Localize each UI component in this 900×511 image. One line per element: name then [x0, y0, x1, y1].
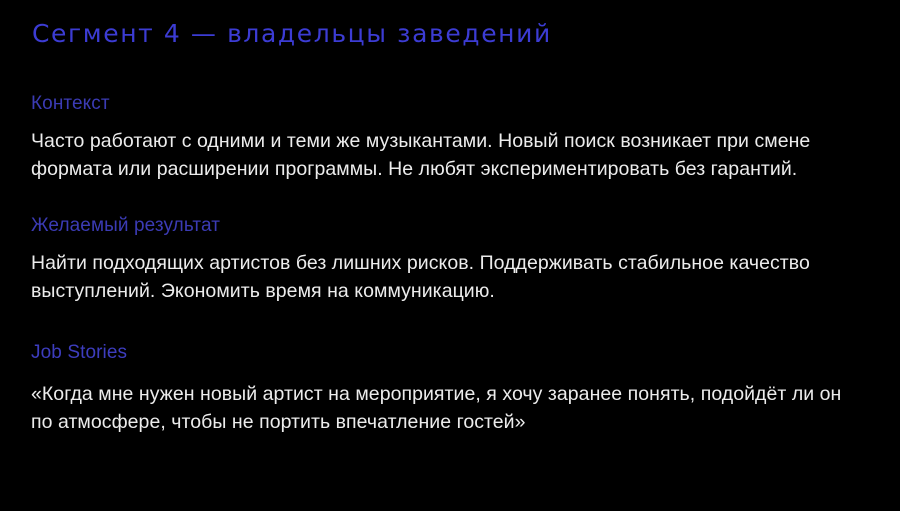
sections-container: Контекст Часто работают с одними и теми … [30, 93, 870, 437]
section-desired-outcome: Желаемый результат Найти подходящих арти… [30, 215, 870, 305]
page-title: Сегмент 4 — владельцы заведений [30, 18, 870, 49]
section-heading-context: Контекст [31, 93, 870, 116]
section-body-job-stories: «Когда мне нужен новый артист на меропри… [31, 381, 861, 436]
section-context: Контекст Часто работают с одними и теми … [30, 93, 870, 183]
section-job-stories: Job Stories «Когда мне нужен новый артис… [30, 342, 870, 437]
section-heading-desired-outcome: Желаемый результат [31, 215, 870, 238]
slide-root: Сегмент 4 — владельцы заведений Контекст… [0, 0, 900, 511]
section-body-context: Часто работают с одними и теми же музыка… [31, 128, 861, 183]
section-body-desired-outcome: Найти подходящих артистов без лишних рис… [31, 250, 861, 305]
section-heading-job-stories: Job Stories [31, 342, 870, 365]
